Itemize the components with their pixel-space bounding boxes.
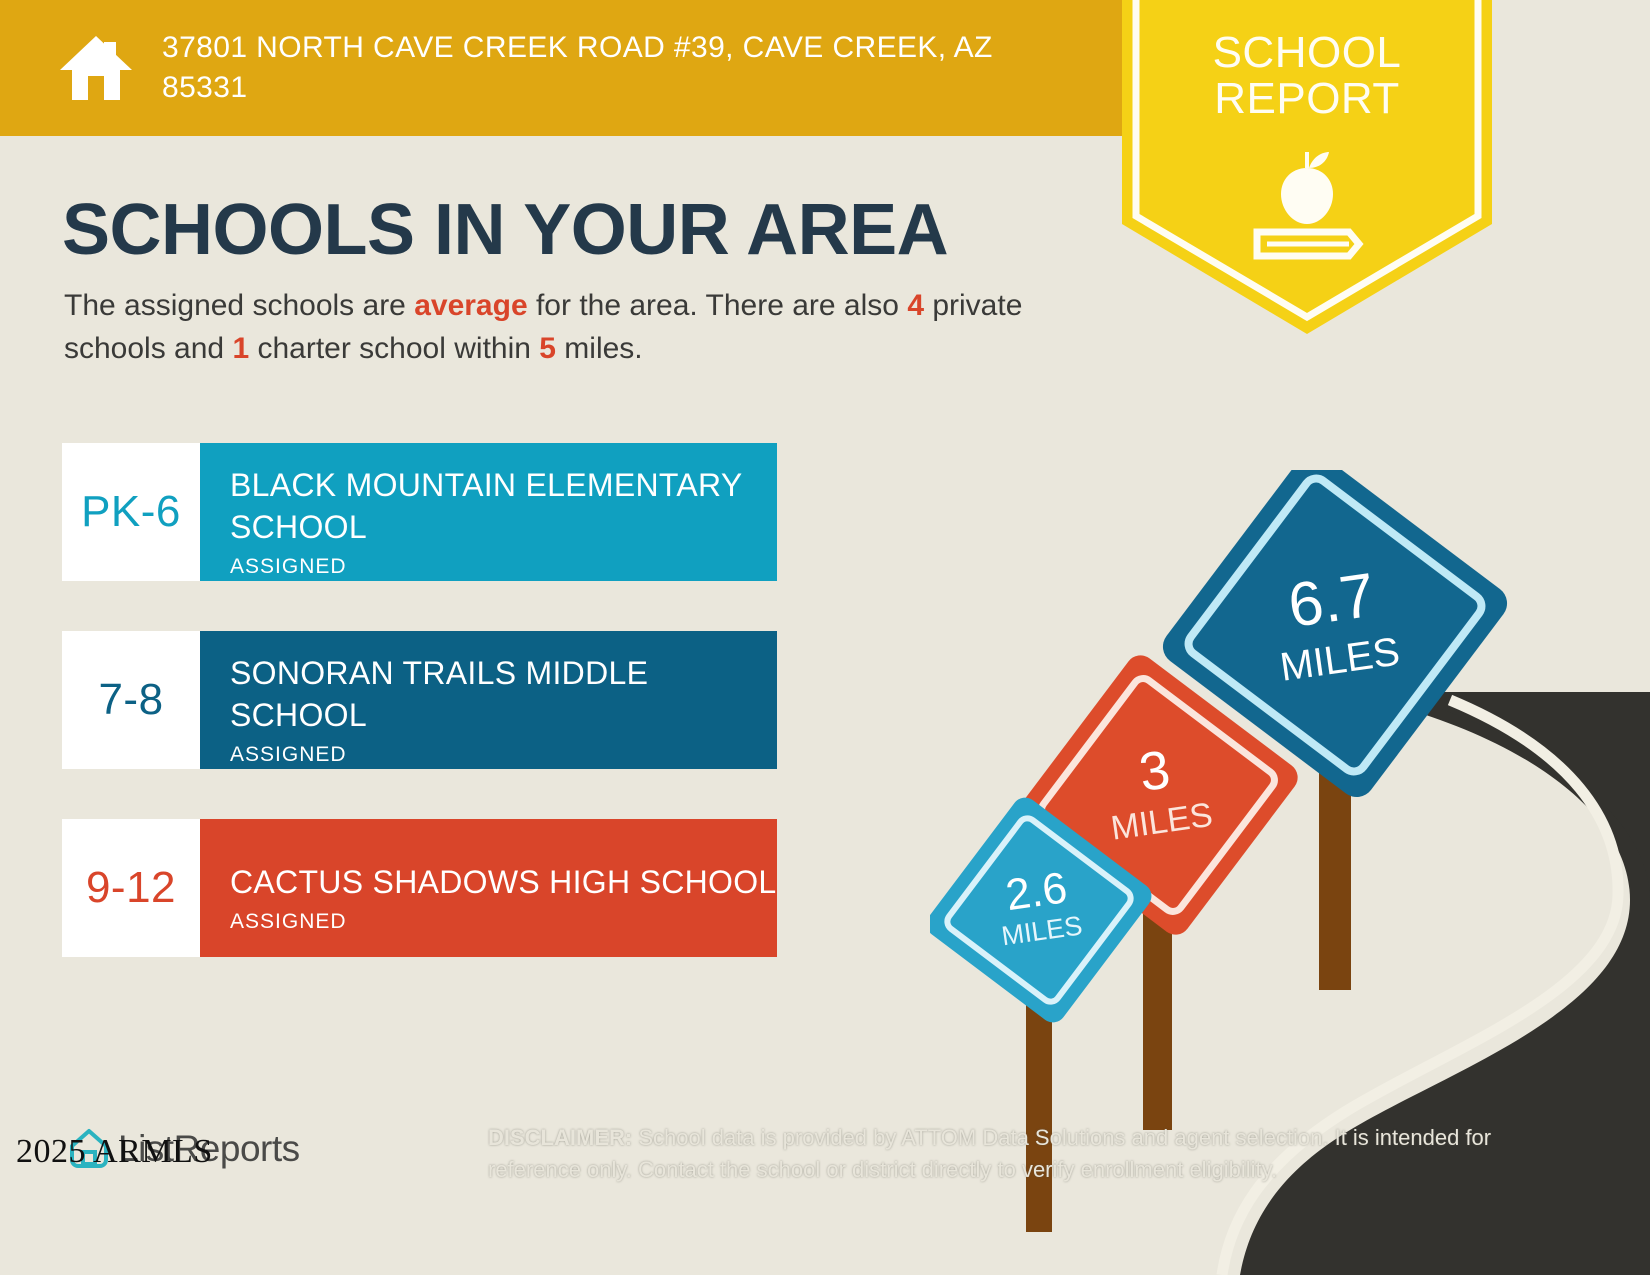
sign-distance-value: 6.7 — [1284, 561, 1379, 641]
intro-part-4: charter school within — [249, 332, 539, 365]
armls-watermark: 2025 ARMLS — [16, 1133, 213, 1171]
intro-private-count: 4 — [907, 289, 924, 322]
school-report-page: 37801 NORTH CAVE CREEK ROAD #39, CAVE CR… — [0, 0, 1650, 1275]
sign-distance-value: 2.6 — [1003, 863, 1070, 920]
property-address: 37801 NORTH CAVE CREEK ROAD #39, CAVE CR… — [162, 28, 1072, 108]
intro-part-5: miles. — [556, 332, 643, 365]
disclaimer-body: School data is provided by ATTOM Data So… — [488, 1125, 1491, 1182]
intro-part-2: for the area. There are also — [528, 289, 908, 322]
intro-part-1: The assigned schools are — [64, 289, 414, 322]
intro-charter-count: 1 — [232, 332, 249, 365]
school-row: PK-6 BLACK MOUNTAIN ELEMENTARY SCHOOL AS… — [62, 443, 777, 581]
school-grade-badge: 9-12 — [62, 819, 200, 957]
school-grade-badge: 7-8 — [62, 631, 200, 769]
home-icon — [58, 32, 134, 104]
school-row: 7-8 SONORAN TRAILS MIDDLE SCHOOL ASSIGNE… — [62, 631, 777, 769]
school-status: ASSIGNED — [230, 743, 777, 767]
school-status: ASSIGNED — [230, 910, 777, 934]
assigned-schools-list: PK-6 BLACK MOUNTAIN ELEMENTARY SCHOOL AS… — [62, 443, 777, 1007]
school-report-badge: SCHOOL REPORT — [1122, 0, 1492, 334]
intro-paragraph: The assigned schools are average for the… — [64, 285, 1094, 370]
school-name: BLACK MOUNTAIN ELEMENTARY SCHOOL — [230, 465, 777, 548]
header-bar: 37801 NORTH CAVE CREEK ROAD #39, CAVE CR… — [0, 0, 1176, 136]
intro-radius: 5 — [539, 332, 556, 365]
disclaimer-text: DISCLAIMER: School data is provided by A… — [488, 1122, 1498, 1186]
intro-rating: average — [414, 289, 527, 322]
school-status: ASSIGNED — [230, 555, 777, 579]
page-title: SCHOOLS IN YOUR AREA — [62, 193, 948, 269]
school-info: BLACK MOUNTAIN ELEMENTARY SCHOOL ASSIGNE… — [200, 443, 777, 581]
school-row: 9-12 CACTUS SHADOWS HIGH SCHOOL ASSIGNED — [62, 819, 777, 957]
disclaimer-label: DISCLAIMER: — [488, 1125, 632, 1150]
school-info: CACTUS SHADOWS HIGH SCHOOL ASSIGNED — [200, 819, 777, 957]
school-grade-badge: PK-6 — [62, 443, 200, 581]
school-name: CACTUS SHADOWS HIGH SCHOOL — [230, 862, 777, 904]
school-name: SONORAN TRAILS MIDDLE SCHOOL — [230, 653, 777, 736]
school-info: SONORAN TRAILS MIDDLE SCHOOL ASSIGNED — [200, 631, 777, 769]
